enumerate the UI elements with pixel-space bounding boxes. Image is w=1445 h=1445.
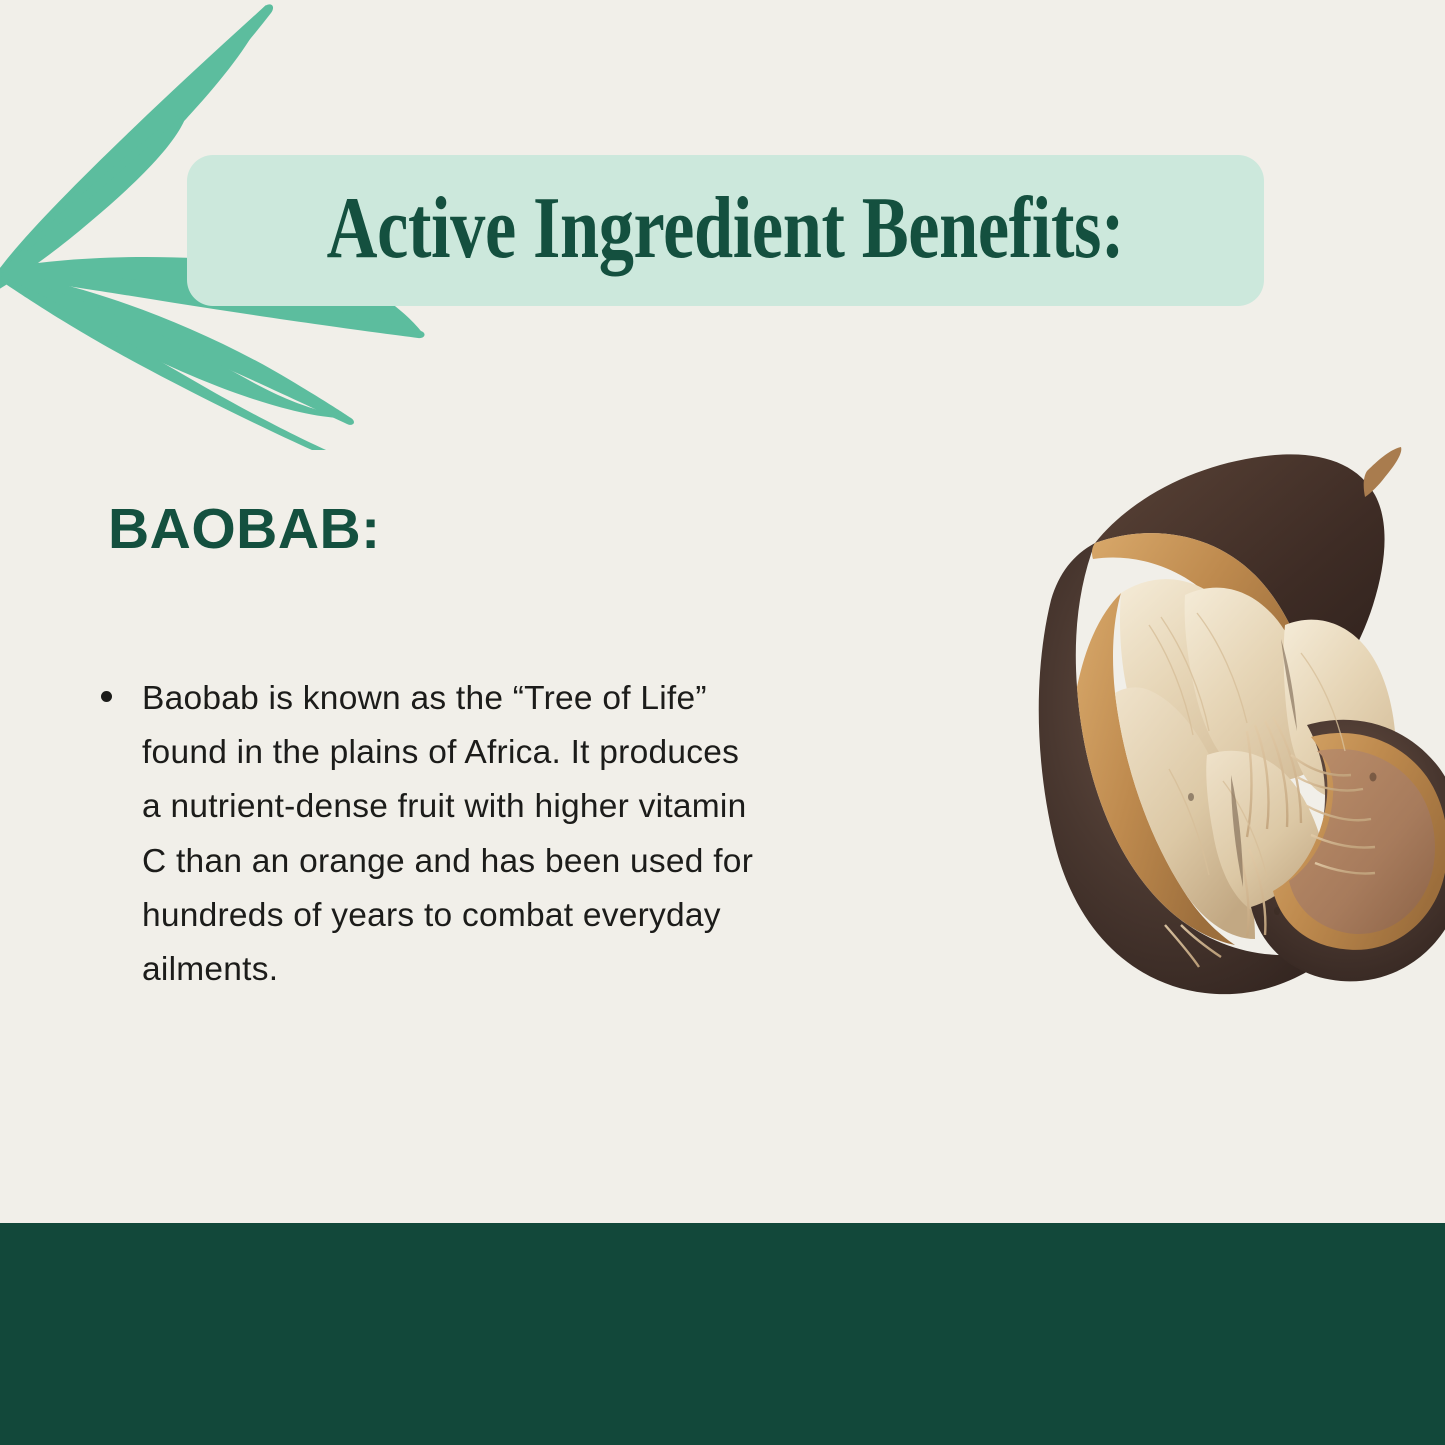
page-title: Active Ingredient Benefits: — [327, 185, 1124, 273]
title-pill: Active Ingredient Benefits: — [187, 155, 1264, 306]
ingredient-heading: BAOBAB: — [108, 500, 780, 560]
content-column: BAOBAB: Baobab is known as the “Tree of … — [100, 500, 780, 997]
footer-band — [0, 1223, 1445, 1445]
list-item-text: Baobab is known as the “Tree of Life” fo… — [142, 680, 753, 988]
benefits-list: Baobab is known as the “Tree of Life” fo… — [100, 672, 780, 998]
baobab-fruit-photo — [955, 425, 1445, 1010]
bullet-icon — [101, 691, 112, 702]
slide-canvas: Active Ingredient Benefits: — [0, 0, 1445, 1445]
list-item: Baobab is known as the “Tree of Life” fo… — [100, 672, 757, 998]
